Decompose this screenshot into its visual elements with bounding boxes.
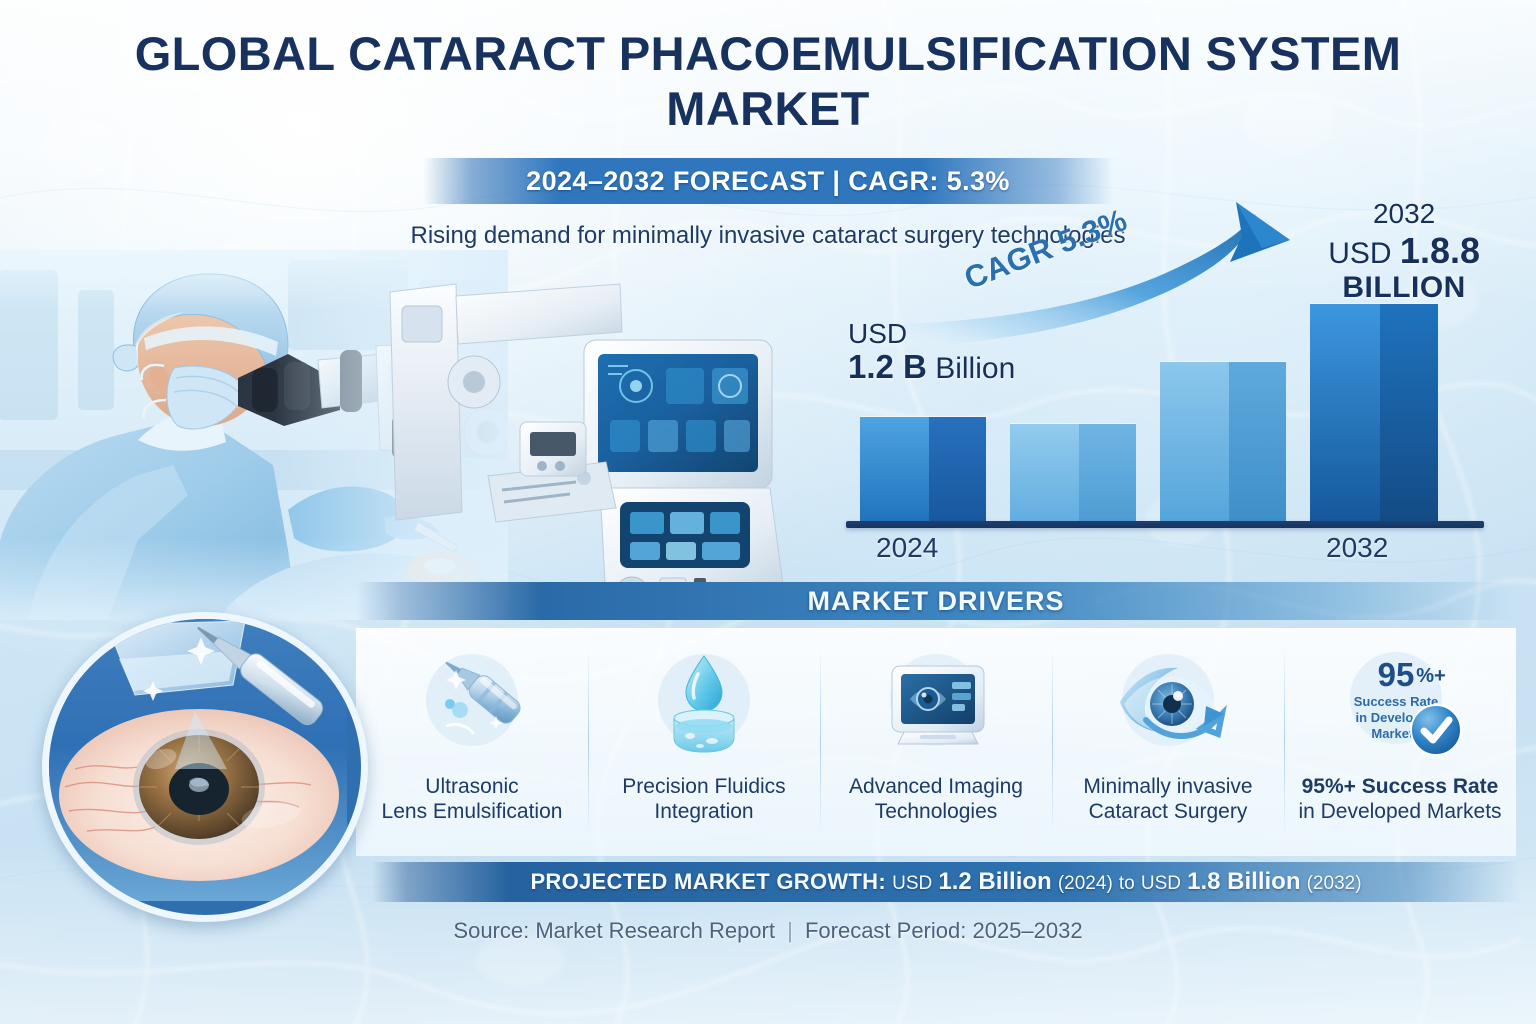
driver-label: 95%+ Success Rate in Developed Markets (1298, 774, 1501, 824)
value-label-2024: USD 1.2 B Billion (848, 318, 1015, 386)
title-line-2: MARKET (90, 81, 1446, 136)
value-2024-amount: 1.2 B (848, 348, 927, 385)
driver-label: Ultrasonic Lens Emulsification (382, 774, 563, 824)
driver-item-fluidics[interactable]: Precision Fluidics Integration (588, 628, 820, 856)
market-drivers-grid: Ultrasonic Lens Emulsification (356, 628, 1516, 856)
bar-side (929, 417, 986, 522)
forecast-ribbon-label: 2024–2032 FORECAST | CAGR: 5.3% (526, 166, 1010, 197)
projected-growth-text: PROJECTED MARKET GROWTH: USD 1.2 Billion… (530, 868, 1361, 896)
growth-value-2: 1.8 Billion (1187, 868, 1300, 895)
chart-axis-line (846, 521, 1484, 528)
driver-label-line1: 95%+ Success Rate (1298, 774, 1501, 799)
bar-side (1229, 362, 1286, 522)
bar-side (1079, 424, 1136, 522)
success-badge-icon: 95 %+ Success Rate in Developed Markets (1338, 642, 1462, 766)
market-growth-chart: CAGR 5.3% 2024 2032 USD 1.2 B Billion 20 (838, 200, 1498, 560)
forecast-ribbon: 2024–2032 FORECAST | CAGR: 5.3% (423, 158, 1113, 204)
driver-label-line2: Cataract Surgery (1083, 799, 1252, 824)
source-separator: | (781, 918, 799, 943)
bar-2024 (860, 416, 986, 522)
forecast-period-text: Forecast Period: 2025–2032 (805, 918, 1083, 943)
projected-growth-banner: PROJECTED MARKET GROWTH: USD 1.2 Billion… (372, 862, 1520, 902)
driver-label: Minimally invasive Cataract Surgery (1083, 774, 1252, 824)
growth-caption: PROJECTED MARKET GROWTH: (530, 869, 886, 894)
driver-label-line1: Precision Fluidics (622, 774, 785, 799)
driver-label-line2: Lens Emulsification (382, 799, 563, 824)
source-text: Source: Market Research Report (453, 918, 775, 943)
driver-item-success-rate[interactable]: 95 %+ Success Rate in Developed Markets … (1284, 628, 1516, 856)
growth-usd-1: USD (892, 873, 932, 894)
driver-item-ultrasonic[interactable]: Ultrasonic Lens Emulsification (356, 628, 588, 856)
infographic-root: GLOBAL CATARACT PHACOEMULSIFICATION SYST… (0, 0, 1536, 1024)
phaco-handpiece-icon (410, 642, 534, 766)
market-drivers-title: MARKET DRIVERS (807, 586, 1064, 617)
driver-label-line1: Minimally invasive (1083, 774, 1252, 799)
driver-item-minimally-invasive[interactable]: Minimally invasive Cataract Surgery (1052, 628, 1284, 856)
market-drivers-band: MARKET DRIVERS (356, 582, 1516, 620)
value-2032-year: 2032 (1328, 198, 1480, 230)
driver-label-line2: Technologies (849, 799, 1023, 824)
eye-closeup-inset (42, 612, 368, 922)
bar-2026 (1010, 423, 1136, 522)
growth-usd-2: USD (1141, 873, 1181, 894)
driver-label-line2: Integration (622, 799, 785, 824)
forecast-ribbon-wrap: 2024–2032 FORECAST | CAGR: 5.3% (0, 158, 1536, 204)
growth-year-1: (2024) (1058, 873, 1113, 894)
driver-label-line1: Advanced Imaging (849, 774, 1023, 799)
title-line-1: GLOBAL CATARACT PHACOEMULSIFICATION SYST… (135, 27, 1402, 80)
driver-label: Advanced Imaging Technologies (849, 774, 1023, 824)
svg-text:95: 95 (1378, 656, 1415, 693)
value-2032-currency: USD (1328, 237, 1391, 270)
source-line: Source: Market Research Report | Forecas… (0, 918, 1536, 944)
value-2024-currency: USD (848, 318, 1015, 349)
driver-item-imaging[interactable]: Advanced Imaging Technologies (820, 628, 1052, 856)
market-drivers-panel: Ultrasonic Lens Emulsification (356, 628, 1516, 856)
eye-arrow-icon (1106, 642, 1230, 766)
value-2032-unit: BILLION (1328, 271, 1480, 305)
bar-2032 (1310, 303, 1438, 522)
page-title: GLOBAL CATARACT PHACOEMULSIFICATION SYST… (0, 26, 1536, 136)
value-label-2032: 2032 USD 1.8.8 BILLION (1328, 198, 1480, 305)
bar-side (1380, 304, 1438, 522)
value-2032-amount: 1.8.8 (1400, 230, 1480, 271)
driver-label-line2: in Developed Markets (1298, 799, 1501, 824)
growth-to: to (1119, 873, 1135, 894)
driver-label-line1: Ultrasonic (382, 774, 563, 799)
fluid-droplet-icon (642, 642, 766, 766)
console-photo (370, 262, 800, 622)
imaging-monitor-icon (874, 642, 998, 766)
svg-text:%+: %+ (1416, 665, 1445, 687)
x-tick-2024: 2024 (876, 532, 938, 564)
value-2024-unit: Billion (935, 352, 1015, 385)
x-tick-2032: 2032 (1326, 532, 1388, 564)
growth-value-1: 1.2 Billion (938, 868, 1051, 895)
driver-label: Precision Fluidics Integration (622, 774, 785, 824)
bar-2029 (1160, 361, 1286, 522)
growth-year-2: (2032) (1307, 873, 1362, 894)
